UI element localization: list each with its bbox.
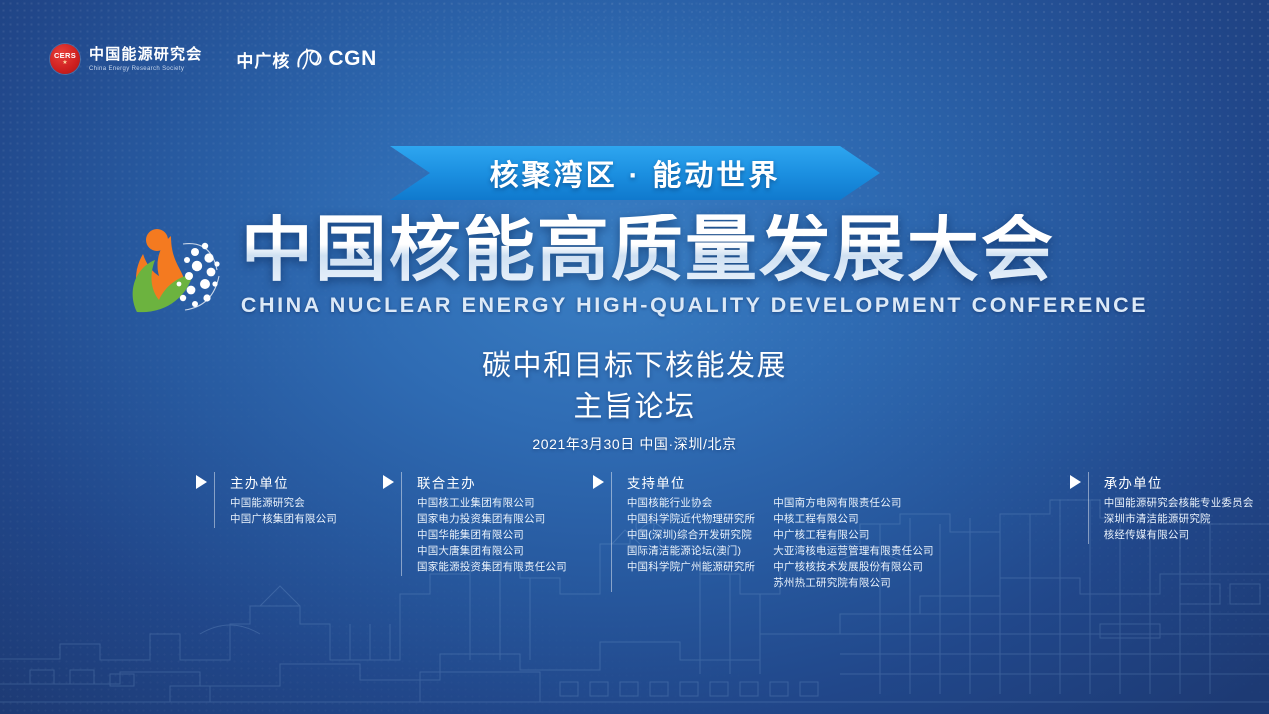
column-divider: [1088, 472, 1089, 544]
column-divider: [401, 472, 402, 576]
organizer-heading: 主办单位: [230, 472, 337, 492]
organizer-group-undertaker: 承办单位 中国能源研究会核能专业委员会 深圳市清洁能源研究院 核经传媒有限公司: [1070, 472, 1254, 544]
date-location-line: 2021年3月30日 中国·深圳/北京: [0, 434, 1269, 454]
organizer-heading: 承办单位: [1104, 472, 1254, 492]
list-item: 中国科学院近代物理研究所: [627, 512, 755, 528]
organizer-row: 主办单位 中国能源研究会 中国广核集团有限公司 联合主办 中国核工业集团有限公司…: [196, 472, 1096, 592]
title-block: 中国核能高质量发展大会 CHINA NUCLEAR ENERGY HIGH-QU…: [0, 214, 1269, 318]
list-item: 国家电力投资集团有限公司: [417, 512, 567, 528]
organizer-group-host: 主办单位 中国能源研究会 中国广核集团有限公司: [196, 472, 337, 528]
list-item: 中国广核集团有限公司: [230, 512, 337, 528]
list-item: 中国核能行业协会: [627, 496, 755, 512]
title-chinese: 中国核能高质量发展大会: [241, 214, 1148, 286]
cers-seal-star-icon: ★: [62, 60, 67, 66]
cgn-name-en: CGN: [328, 47, 376, 71]
organizer-group-co-host: 联合主办 中国核工业集团有限公司 国家电力投资集团有限公司 中国华能集团有限公司…: [383, 472, 567, 576]
cgn-logo: 中广核 CGN: [236, 46, 376, 72]
list-item: 国际清洁能源论坛(澳门): [627, 544, 755, 560]
forum-subtitle-line1: 碳中和目标下核能发展: [0, 346, 1269, 387]
organizer-list: 中国能源研究会 中国广核集团有限公司: [230, 496, 337, 528]
cers-logo: CERS ★ 中国能源研究会 China Energy Research Soc…: [50, 44, 202, 74]
conference-poster: CERS ★ 中国能源研究会 China Energy Research Soc…: [0, 0, 1269, 714]
cers-name-en: China Energy Research Society: [89, 66, 202, 72]
list-item: 中国南方电网有限责任公司: [773, 496, 934, 512]
cers-seal-text: CERS: [54, 52, 76, 60]
header-logo-bar: CERS ★ 中国能源研究会 China Energy Research Soc…: [50, 44, 377, 74]
slogan-text: 核聚湾区 · 能动世界: [490, 152, 781, 194]
organizer-list-secondary: 中国南方电网有限责任公司 中核工程有限公司 中广核工程有限公司 大亚湾核电运营管…: [773, 496, 934, 592]
organizer-heading: 联合主办: [417, 472, 567, 492]
list-item: 中广核工程有限公司: [773, 528, 934, 544]
list-item: 中国华能集团有限公司: [417, 528, 567, 544]
list-item: 苏州热工研究院有限公司: [773, 576, 934, 592]
slogan-ribbon: 核聚湾区 · 能动世界: [390, 146, 880, 200]
triangle-marker-icon: [593, 475, 604, 489]
triangle-marker-icon: [1070, 475, 1081, 489]
conference-emblem-icon: [121, 214, 225, 318]
organizer-list: 中国能源研究会核能专业委员会 深圳市清洁能源研究院 核经传媒有限公司: [1104, 496, 1254, 544]
list-item: 中国科学院广州能源研究所: [627, 560, 755, 576]
forum-subtitle-line2: 主旨论坛: [0, 387, 1269, 428]
list-item: 核经传媒有限公司: [1104, 528, 1254, 544]
cgn-swirl-icon: [294, 46, 324, 72]
forum-subtitle: 碳中和目标下核能发展 主旨论坛: [0, 346, 1269, 428]
list-item: 大亚湾核电运营管理有限责任公司: [773, 544, 934, 560]
column-divider: [214, 472, 215, 528]
organizer-list: 中国核工业集团有限公司 国家电力投资集团有限公司 中国华能集团有限公司 中国大唐…: [417, 496, 567, 576]
organizer-list: 中国核能行业协会 中国科学院近代物理研究所 中国(深圳)综合开发研究院 国际清洁…: [627, 496, 755, 592]
cers-name-cn: 中国能源研究会: [89, 46, 202, 63]
list-item: 中国能源研究会核能专业委员会: [1104, 496, 1254, 512]
triangle-marker-icon: [196, 475, 207, 489]
list-item: 中国大唐集团有限公司: [417, 544, 567, 560]
list-item: 中核工程有限公司: [773, 512, 934, 528]
title-english: CHINA NUCLEAR ENERGY HIGH-QUALITY DEVELO…: [241, 293, 1148, 318]
list-item: 深圳市清洁能源研究院: [1104, 512, 1254, 528]
organizer-group-support: 支持单位 中国核能行业协会 中国科学院近代物理研究所 中国(深圳)综合开发研究院…: [593, 472, 934, 592]
organizer-heading: 支持单位: [627, 472, 934, 492]
cers-seal-icon: CERS ★: [50, 44, 80, 74]
column-divider: [611, 472, 612, 592]
list-item: 中国能源研究会: [230, 496, 337, 512]
list-item: 中国(深圳)综合开发研究院: [627, 528, 755, 544]
list-item: 中广核核技术发展股份有限公司: [773, 560, 934, 576]
list-item: 中国核工业集团有限公司: [417, 496, 567, 512]
cgn-name-cn: 中广核: [236, 47, 290, 72]
triangle-marker-icon: [383, 475, 394, 489]
list-item: 国家能源投资集团有限责任公司: [417, 560, 567, 576]
